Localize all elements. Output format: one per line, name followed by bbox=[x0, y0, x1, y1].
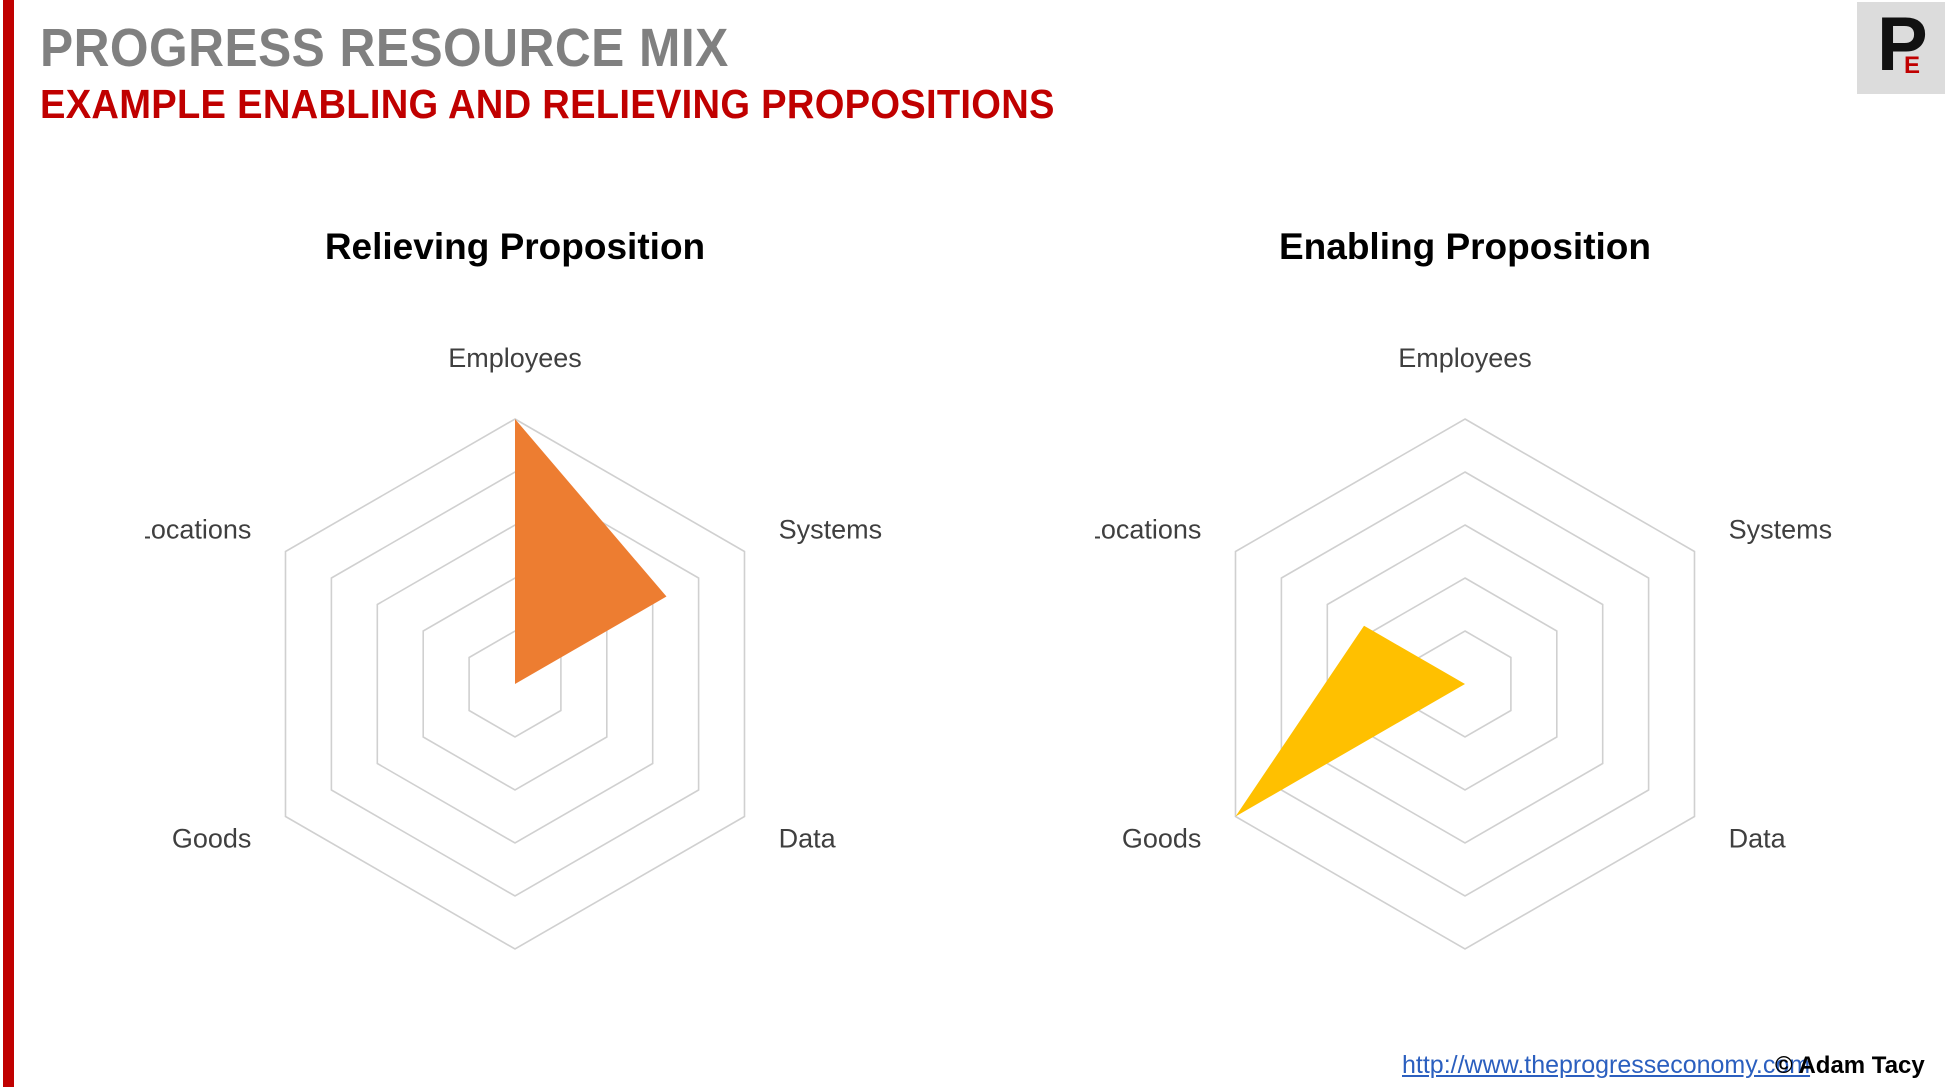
chart-title-relieving: Relieving Proposition bbox=[145, 225, 885, 269]
progress-economy-logo: P E bbox=[1857, 2, 1945, 94]
page-subtitle: EXAMPLE ENABLING AND RELIEVING PROPOSITI… bbox=[40, 80, 1677, 128]
chart-panel-relieving: Relieving Proposition EmployeesSystemsDa… bbox=[145, 225, 885, 969]
radar-axis-label: Systems bbox=[1729, 515, 1833, 545]
logo-letter-e: E bbox=[1904, 54, 1920, 78]
chart-panel-enabling: Enabling Proposition EmployeesSystemsDat… bbox=[1095, 225, 1835, 969]
radar-series-relieving bbox=[515, 419, 666, 684]
left-accent-bar bbox=[3, 0, 14, 1087]
radar-axis-label: Goods bbox=[1122, 824, 1202, 854]
radar-series-enabling bbox=[1236, 626, 1557, 817]
radar-axis-label: Systems bbox=[779, 515, 883, 545]
copyright-notice: © Adam Tacy bbox=[1775, 1051, 1925, 1081]
radar-chart-enabling: EmployeesSystemsDataPhysicalResourcesGoo… bbox=[1095, 269, 1835, 969]
radar-axis-label: Goods bbox=[172, 824, 252, 854]
radar-axis-label: Locations bbox=[1095, 515, 1201, 545]
page-title: PROGRESS RESOURCE MIX bbox=[40, 18, 1659, 78]
radar-axis-label: Employees bbox=[448, 343, 582, 373]
radar-axis-label: Data bbox=[1729, 824, 1787, 854]
chart-title-enabling: Enabling Proposition bbox=[1095, 225, 1835, 269]
website-link[interactable]: http://www.theprogresseconomy.com bbox=[1402, 1050, 1810, 1080]
radar-axis-label: Employees bbox=[1398, 343, 1532, 373]
logo-letter-p: P bbox=[1877, 7, 1928, 83]
radar-axis-label: Locations bbox=[145, 515, 251, 545]
radar-chart-relieving: EmployeesSystemsDataPhysicalResourcesGoo… bbox=[145, 269, 885, 969]
radar-axis-label: Data bbox=[779, 824, 837, 854]
slide-header: PROGRESS RESOURCE MIX EXAMPLE ENABLING A… bbox=[40, 18, 1800, 128]
